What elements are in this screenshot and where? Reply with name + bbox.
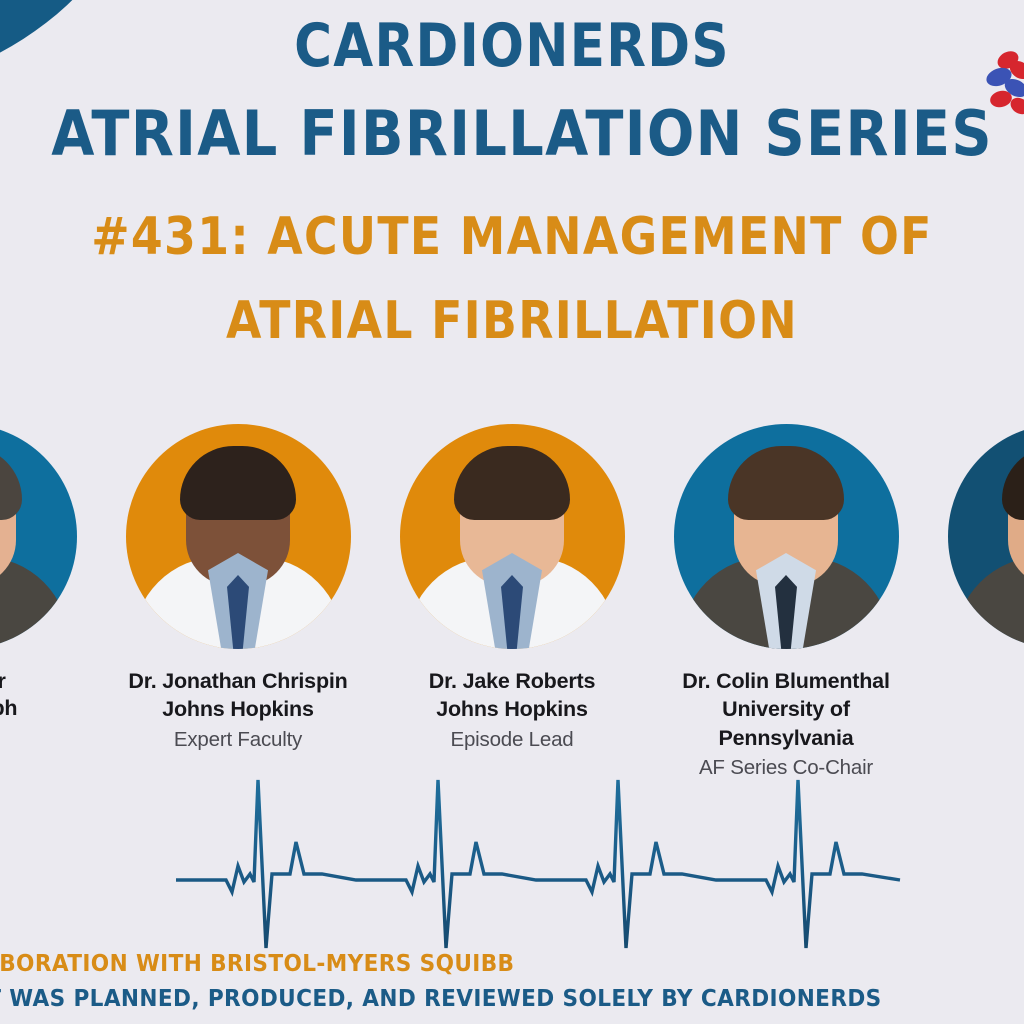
avatar-hair	[1002, 446, 1024, 520]
avatar-torso	[955, 557, 1024, 649]
contributor-name: mbinder	[0, 667, 101, 695]
contributor-affiliation: Johns Hopkins	[101, 695, 375, 723]
footer: IN COLLABORATION WITH BRISTOL-MYERS SQUI…	[0, 947, 1024, 1018]
contributor-card-4: Dr. Colin Blumenthal University of Penns…	[649, 424, 923, 781]
ecg-waveform	[0, 770, 1024, 960]
avatar	[126, 424, 351, 649]
avatar-hair	[728, 446, 844, 520]
contributor-affiliation: St. Joseph Center	[0, 695, 101, 750]
contributor-role: AF	[923, 727, 1024, 753]
avatar	[674, 424, 899, 649]
contributor-card-5: Dr. Unive AF	[923, 424, 1024, 753]
avatar	[400, 424, 625, 649]
contributor-name: Dr. Colin Blumenthal	[649, 667, 923, 695]
contributor-role: Episode Lead	[375, 727, 649, 753]
contributor-name: Dr. Jake Roberts	[375, 667, 649, 695]
series-brand-title: CARDIONERDS	[72, 16, 953, 76]
footer-sponsor-line: IN COLLABORATION WITH BRISTOL-MYERS SQUI…	[0, 947, 974, 983]
contributor-name: Dr. Jonathan Chrispin	[101, 667, 375, 695]
contributor-card-1: mbinder St. Joseph Center erds der	[0, 424, 101, 806]
avatar	[0, 424, 77, 649]
avatar-hair	[454, 446, 570, 520]
contributor-affiliation: Unive	[923, 695, 1024, 723]
slide-canvas: CARDIONERDS ATRIAL FIBRILLATION SERIES #…	[0, 0, 1024, 1024]
series-name-title: ATRIAL FIBRILLATION SERIES	[51, 103, 973, 165]
contributors-row: mbinder St. Joseph Center erds der Dr. J…	[0, 424, 1024, 824]
footer-disclaimer-line: CONTENT WAS PLANNED, PRODUCED, AND REVIE…	[0, 982, 974, 1018]
contributor-card-3: Dr. Jake Roberts Johns Hopkins Episode L…	[375, 424, 649, 753]
contributor-name: Dr.	[923, 667, 1024, 695]
avatar-torso	[0, 557, 69, 649]
contributor-role: Expert Faculty	[101, 727, 375, 753]
avatar-hair	[0, 446, 22, 520]
contributor-affiliation: University of Pennsylvania	[649, 695, 923, 752]
avatar	[948, 424, 1024, 649]
contributor-card-2: Dr. Jonathan Chrispin Johns Hopkins Expe…	[101, 424, 375, 753]
contributor-affiliation: Johns Hopkins	[375, 695, 649, 723]
title-block: CARDIONERDS ATRIAL FIBRILLATION SERIES #…	[0, 0, 1024, 347]
avatar-hair	[180, 446, 296, 520]
episode-title-line-1: #431: ACUTE MANAGEMENT OF	[61, 211, 962, 263]
episode-title-line-2: ATRIAL FIBRILLATION	[61, 295, 962, 347]
